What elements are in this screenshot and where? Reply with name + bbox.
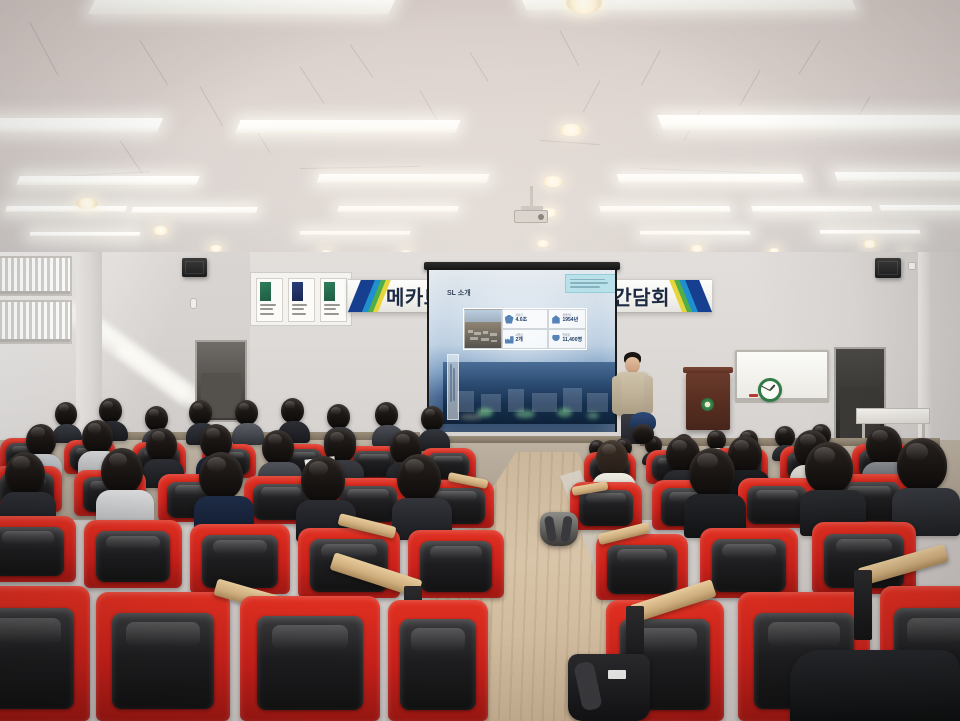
audience-member — [628, 412, 658, 448]
projector-mount-bracket — [521, 206, 543, 210]
projection-screen: SL 소개 자본금 4.0조 — [427, 270, 617, 432]
window-blinds[interactable] — [0, 302, 70, 342]
ceiling-strip-light — [599, 206, 730, 212]
slide-stat-cell: 자본금 4.0조 — [502, 309, 549, 329]
backpack-strap — [544, 515, 557, 542]
ceiling-downlight — [152, 226, 169, 235]
ceiling-downlight — [542, 176, 564, 187]
head — [689, 448, 735, 498]
side-table — [856, 408, 930, 424]
ceiling-strip-light — [834, 172, 960, 181]
auditorium-seat[interactable] — [190, 524, 290, 594]
slide-night-photo — [443, 362, 615, 424]
head — [327, 404, 350, 429]
wall-poster — [256, 278, 283, 322]
ceiling-strip-light — [657, 115, 960, 130]
ceiling-downlight — [690, 245, 704, 252]
head — [5, 452, 45, 496]
audience-member — [800, 442, 866, 534]
window-lower — [0, 300, 72, 344]
seat-cushion — [400, 619, 476, 710]
backpack[interactable] — [540, 512, 578, 546]
whiteboard-tray — [735, 398, 829, 403]
slide-stat-cell: 사업장 2개 — [502, 329, 549, 349]
auditorium-seat[interactable] — [700, 528, 798, 598]
lectern — [686, 372, 730, 430]
ceiling-strip-light — [300, 231, 411, 235]
seat-cushion — [202, 535, 278, 588]
head — [262, 430, 294, 465]
auditorium-seat[interactable] — [388, 600, 488, 721]
seat-cushion — [257, 616, 363, 710]
head — [281, 398, 304, 423]
ceiling-strip-light — [617, 174, 805, 183]
ceiling-downlight — [540, 208, 558, 217]
backpack-label — [608, 670, 626, 679]
torso — [790, 650, 960, 721]
seat-cushion — [607, 545, 677, 595]
ceiling-downlight — [862, 240, 877, 248]
ceiling-strip-light — [16, 176, 200, 185]
ceiling-downlight — [536, 240, 550, 247]
head — [101, 448, 143, 494]
ceiling-strip-light — [235, 120, 460, 133]
wall-thermostat[interactable] — [190, 298, 197, 309]
ceiling-strip-light — [514, 0, 856, 10]
seat-cushion — [712, 539, 787, 592]
window-upper — [0, 256, 72, 296]
ceiling — [0, 0, 960, 262]
ceiling-downlight — [566, 0, 602, 14]
slide-corner-tag — [565, 274, 617, 293]
head — [189, 400, 212, 425]
lectern-emblem — [701, 398, 714, 411]
head — [199, 452, 243, 500]
ceiling-projector — [514, 210, 548, 223]
ceiling-strip-light — [5, 206, 127, 212]
audience-member — [790, 650, 960, 721]
wall-speaker — [182, 258, 207, 277]
ceiling-strip-light — [0, 118, 163, 132]
backpack[interactable] — [568, 654, 650, 721]
head — [55, 402, 77, 426]
seat-cushion — [420, 541, 493, 592]
projection-screen-case — [424, 262, 620, 270]
head — [421, 406, 444, 431]
wall-speaker — [875, 258, 901, 278]
audience-member — [96, 448, 154, 528]
slide-title: SL 소개 — [447, 288, 471, 298]
stat-value: 11,400명 — [562, 338, 582, 343]
slide-stat-grid: 자본금 4.0조 설립연도 1954년 — [463, 308, 587, 350]
presenter-arm — [612, 376, 621, 414]
head — [632, 424, 654, 444]
wall-switch[interactable] — [908, 262, 916, 270]
wall-column-right — [918, 252, 932, 462]
wall-poster — [320, 278, 347, 322]
auditorium-seat[interactable] — [240, 596, 380, 721]
seat-cushion — [0, 608, 74, 709]
ceiling-downlight — [76, 198, 98, 209]
presenter-arm — [644, 376, 653, 414]
auditorium-seat[interactable] — [408, 530, 504, 598]
audience-member — [892, 438, 960, 534]
head — [301, 456, 345, 504]
auditorium-seat[interactable] — [84, 520, 182, 588]
ceiling-strip-light — [30, 232, 141, 236]
lectern-top — [683, 367, 732, 373]
head — [596, 440, 628, 476]
auditorium-seat[interactable] — [0, 516, 76, 582]
employees-icon — [551, 335, 560, 344]
seat-cushion — [112, 613, 214, 710]
auditorium-photo: 메카트로 영 간담회 SL 소개 자본금 4.0조 — [0, 0, 960, 721]
wall-poster — [288, 278, 315, 322]
backpack-strap — [560, 516, 573, 543]
head — [805, 442, 853, 494]
seat-cushion — [579, 490, 634, 526]
auditorium-seat[interactable] — [96, 592, 230, 721]
seat-cushion — [0, 527, 64, 577]
whiteboard[interactable] — [735, 350, 829, 400]
slide-stat-cell: 설립연도 1954년 — [548, 309, 586, 329]
armrest-post — [854, 570, 872, 640]
backpack-strap — [573, 660, 603, 711]
ceiling-strip-light — [879, 205, 960, 211]
head — [235, 400, 258, 425]
ceiling-strip-light — [317, 174, 490, 183]
seat-cushion — [96, 531, 171, 582]
seat-cushion — [747, 486, 806, 524]
poster-board — [250, 272, 352, 326]
ceiling-downlight — [558, 124, 584, 136]
auditorium-seat[interactable] — [0, 586, 90, 721]
founded-icon — [551, 315, 560, 324]
stat-value: 4.0조 — [516, 318, 528, 323]
ceiling-strip-light — [640, 231, 751, 235]
slide-stat-cell: 임직원 11,400명 — [548, 329, 586, 349]
head — [375, 402, 398, 427]
ceiling-strip-light — [820, 230, 921, 234]
head — [897, 438, 947, 492]
wall-clock — [758, 378, 782, 402]
ceiling-strip-light — [88, 0, 404, 14]
ceiling-downlight — [209, 245, 223, 252]
presenter-head — [625, 357, 640, 373]
window-blinds[interactable] — [0, 258, 70, 294]
ceiling-strip-light — [337, 206, 458, 212]
stat-value: 2개 — [516, 338, 523, 343]
slide-aerial-photo — [464, 309, 502, 349]
projector-mount — [530, 186, 533, 208]
capital-icon — [505, 315, 514, 324]
head — [397, 454, 441, 502]
audience-member — [392, 454, 452, 538]
projector-lens — [538, 214, 544, 220]
ceiling-strip-light — [751, 206, 873, 212]
factory-icon — [505, 335, 514, 344]
ceiling-strip-light — [131, 207, 258, 213]
audience-member — [684, 448, 746, 536]
stat-value: 1954년 — [562, 318, 578, 323]
